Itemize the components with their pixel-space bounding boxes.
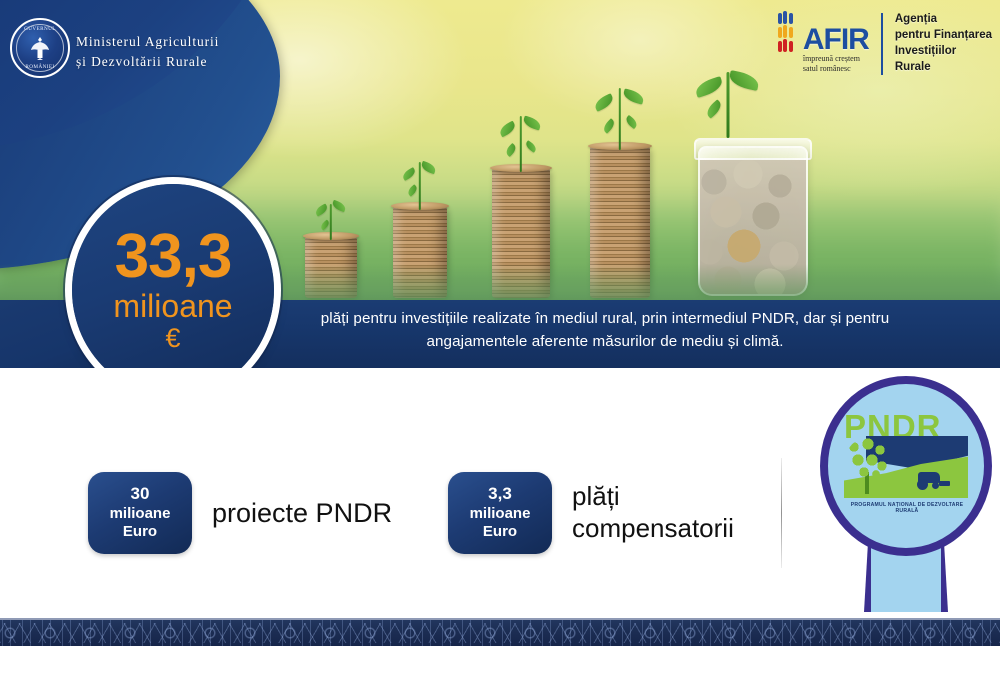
banner-line-2: angajamentele aferente măsurilor de medi…: [250, 330, 960, 353]
coin-stack-2: [393, 206, 447, 298]
coin-jar: [698, 146, 808, 296]
headline-figure-currency: €: [165, 324, 180, 352]
afir-agency-line-1: Agenția: [895, 12, 992, 28]
afir-logo: AFIR împreună creștem satul românesc Age…: [778, 12, 992, 75]
stat-label-projects: proiecte PNDR: [212, 497, 392, 530]
stat-item-projects: 30 milioane Euro proiecte PNDR: [88, 472, 392, 554]
tree-icon: [846, 438, 888, 480]
coin-stack-4: [590, 146, 650, 298]
jar-sprout-icon: [693, 66, 763, 138]
afir-tagline: împreună creștem satul românesc: [803, 54, 860, 74]
stat-pill-compensatory: 3,3 milioane Euro: [448, 472, 552, 554]
afir-agency-line-2: pentru Finanțarea: [895, 28, 992, 44]
stat-currency: Euro: [123, 523, 157, 541]
wheat-ears-icon: [778, 13, 800, 53]
headline-figure-unit: milioane: [113, 289, 232, 324]
coin-stack-1: [305, 236, 357, 298]
emblem-top-text: GUVERNUL: [12, 26, 68, 32]
ministry-line-2: și Dezvoltării Rurale: [76, 52, 219, 72]
stat-label-compensatory: plăți compensatorii: [572, 481, 734, 544]
bottom-white-margin: [0, 646, 1000, 688]
afir-agency-name: Agenția pentru Finanțarea Investițiilor …: [895, 12, 992, 75]
afir-tagline-line-2: satul românesc: [803, 64, 860, 74]
sprout-icon: [399, 158, 441, 210]
afir-agency-line-3: Investițiilor: [895, 44, 992, 60]
pndr-logo: PNDR PROGRAMUL NAȚIONAL DE DEZVOLTARE RU…: [812, 372, 1000, 612]
banner-text: plăți pentru investițiile realizate în m…: [250, 307, 960, 353]
decorative-bottom-strip: [0, 620, 1000, 646]
vertical-separator: [781, 458, 782, 568]
ministry-title: Ministerul Agriculturii și Dezvoltării R…: [76, 32, 219, 71]
headline-figure-badge: 33,3 milioane €: [72, 184, 274, 396]
stat-pill-projects: 30 milioane Euro: [88, 472, 192, 554]
sprout-icon: [311, 198, 351, 240]
afir-agency-line-4: Rurale: [895, 60, 992, 76]
pndr-scene-illustration: [844, 436, 968, 498]
stat-label-line-1: plăți: [572, 481, 734, 513]
ministry-line-1: Ministerul Agriculturii: [76, 32, 219, 52]
sprout-icon: [497, 110, 545, 172]
jar-coins-fill: [698, 160, 808, 296]
pndr-caption: PROGRAMUL NAȚIONAL DE DEZVOLTARE RURALĂ: [842, 502, 972, 514]
strip-motif-circles: [0, 625, 1000, 641]
infographic-poster: GUVERNUL ROMÂNIEI Ministerul Agriculturi…: [0, 0, 1000, 688]
coin-stack-3: [492, 168, 550, 298]
stat-label-line-2: compensatorii: [572, 513, 734, 545]
afir-divider: [881, 13, 883, 75]
tractor-icon: [916, 470, 950, 490]
stat-currency: Euro: [483, 523, 517, 541]
afir-tagline-line-1: împreună creștem: [803, 54, 860, 64]
guvernul-romaniei-emblem: GUVERNUL ROMÂNIEI: [10, 18, 70, 78]
stat-item-compensatory: 3,3 milioane Euro plăți compensatorii: [448, 472, 734, 554]
magnifier-lens: PNDR PROGRAMUL NAȚIONAL DE DEZVOLTARE RU…: [820, 376, 992, 556]
stat-label-line-1: proiecte PNDR: [212, 497, 392, 530]
stat-unit: milioane: [470, 505, 531, 523]
sprout-icon: [593, 80, 647, 150]
stat-amount: 30: [131, 484, 150, 505]
stat-amount: 3,3: [488, 484, 512, 505]
headline-figure-value: 33,3: [115, 228, 232, 287]
banner-line-1: plăți pentru investițiile realizate în m…: [250, 307, 960, 330]
afir-mark: AFIR împreună creștem satul românesc: [778, 13, 869, 74]
emblem-bottom-text: ROMÂNIEI: [12, 64, 68, 70]
stat-unit: milioane: [110, 505, 171, 523]
afir-wordmark: AFIR: [803, 26, 869, 53]
